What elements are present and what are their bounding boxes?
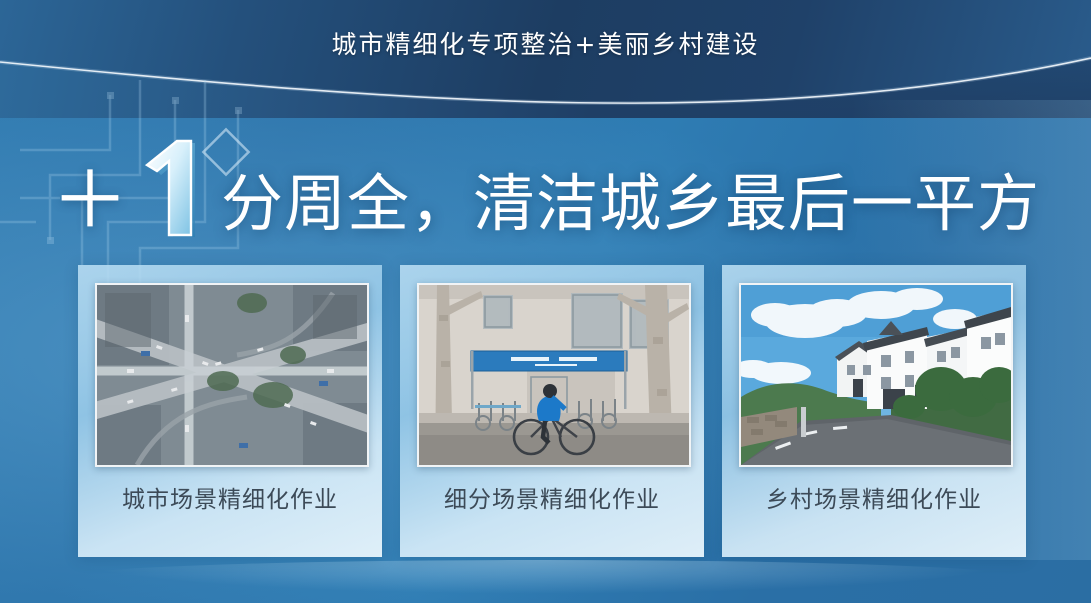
city-interchange-photo bbox=[95, 283, 369, 467]
card-caption: 城市场景精细化作业 bbox=[78, 480, 382, 514]
slide-canvas: 城市精细化专项整治+美丽乡村建设 ＋ bbox=[0, 0, 1091, 603]
village-photo bbox=[739, 283, 1013, 467]
card-village[interactable]: 乡村场景精细化作业 bbox=[722, 265, 1026, 557]
headline: ＋ 分周全，清洁城乡最后一平方 bbox=[0, 150, 1091, 245]
card-street[interactable]: 细分场景精细化作业 bbox=[400, 265, 704, 557]
card-caption: 细分场景精细化作业 bbox=[400, 480, 704, 514]
bottom-reflection bbox=[70, 560, 1020, 594]
page-title: 城市精细化专项整治+美丽乡村建设 bbox=[0, 25, 1091, 61]
headline-text: 分周全，清洁城乡最后一平方 bbox=[221, 153, 1040, 243]
headline-number-one bbox=[133, 143, 219, 253]
card-city[interactable]: 城市场景精细化作业 bbox=[78, 265, 382, 557]
card-caption: 乡村场景精细化作业 bbox=[722, 480, 1026, 514]
headline-plus-sign: ＋ bbox=[51, 162, 129, 240]
street-scene-photo bbox=[417, 283, 691, 467]
cards-row: 城市场景精细化作业 bbox=[78, 265, 1033, 557]
